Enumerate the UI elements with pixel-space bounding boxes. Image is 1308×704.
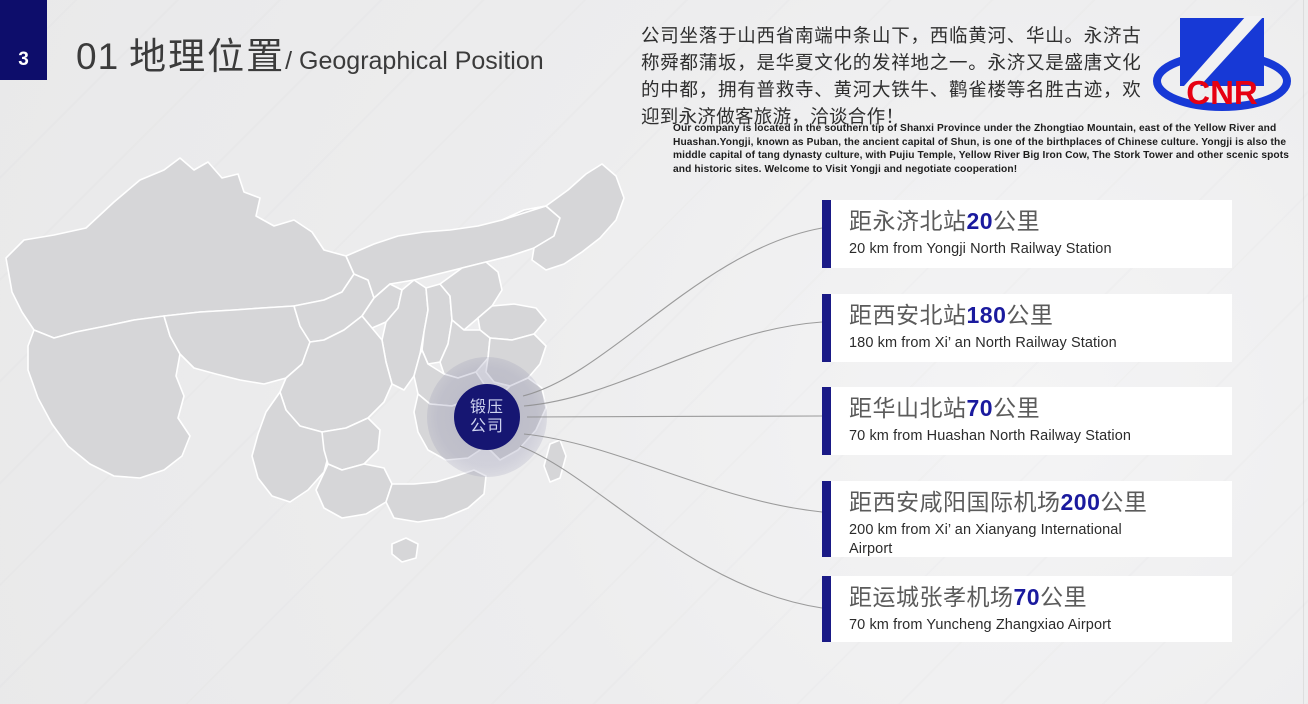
right-edge-divider: [1303, 0, 1304, 704]
map-marker-forging-company[interactable]: 锻压 公司: [454, 384, 520, 450]
card-body: 距华山北站70公里 70 km from Huashan North Railw…: [831, 387, 1232, 455]
map-region: [164, 306, 310, 384]
title-index: 01: [76, 36, 119, 77]
card-title-suffix: 公里: [1006, 303, 1053, 329]
title-english: / Geographical Position: [285, 47, 543, 75]
card-body: 距西安北站180公里 180 km from Xi’ an North Rail…: [831, 294, 1232, 362]
card-distance-number: 180: [967, 302, 1007, 328]
cnr-logo: CNR: [1148, 8, 1296, 114]
card-distance-number: 70: [967, 395, 994, 421]
card-accent-bar: [822, 294, 831, 362]
card-title-chinese: 距华山北站70公里: [849, 394, 1232, 423]
slide-number-badge: 3: [0, 0, 47, 80]
map-region: [478, 304, 546, 340]
info-card[interactable]: 距运城张孝机场70公里 70 km from Yuncheng Zhangxia…: [822, 576, 1232, 642]
page-title: 01地理位置/ Geographical Position: [76, 38, 544, 75]
card-title-chinese: 距西安咸阳国际机场200公里: [849, 488, 1232, 517]
card-title-suffix: 公里: [1100, 490, 1147, 516]
card-distance-number: 20: [967, 208, 994, 234]
map-region: [386, 470, 486, 522]
card-title-suffix: 公里: [993, 209, 1040, 235]
card-subtitle-english: 20 km from Yongji North Railway Station: [849, 240, 1232, 259]
card-distance-number: 70: [1014, 584, 1041, 610]
card-title-prefix: 距西安北站: [849, 303, 967, 329]
card-title-prefix: 距永济北站: [849, 209, 967, 235]
card-title-prefix: 距华山北站: [849, 396, 967, 422]
marker-label-line2: 公司: [470, 417, 504, 436]
info-card[interactable]: 距西安咸阳国际机场200公里 200 km from Xi’ an Xianya…: [822, 481, 1232, 557]
map-region: [392, 538, 418, 562]
info-card[interactable]: 距西安北站180公里 180 km from Xi’ an North Rail…: [822, 294, 1232, 362]
marker-label-line1: 锻压: [470, 398, 504, 417]
info-card[interactable]: 距永济北站20公里 20 km from Yongji North Railwa…: [822, 200, 1232, 268]
card-subtitle-english: 200 km from Xi’ an Xianyang Internationa…: [849, 521, 1149, 559]
card-accent-bar: [822, 576, 831, 642]
card-title-chinese: 距运城张孝机场70公里: [849, 583, 1232, 612]
card-title-prefix: 距运城张孝机场: [849, 585, 1014, 611]
card-title-chinese: 距西安北站180公里: [849, 301, 1232, 330]
card-accent-bar: [822, 481, 831, 557]
slide-canvas: 3 01地理位置/ Geographical Position 公司坐落于山西省…: [0, 0, 1308, 704]
card-body: 距西安咸阳国际机场200公里 200 km from Xi’ an Xianya…: [831, 481, 1232, 557]
card-subtitle-english: 70 km from Yuncheng Zhangxiao Airport: [849, 616, 1232, 635]
card-title-chinese: 距永济北站20公里: [849, 207, 1232, 236]
card-subtitle-english: 180 km from Xi’ an North Railway Station: [849, 334, 1232, 353]
card-distance-number: 200: [1061, 489, 1101, 515]
card-body: 距运城张孝机场70公里 70 km from Yuncheng Zhangxia…: [831, 576, 1232, 642]
card-accent-bar: [822, 200, 831, 268]
title-chinese: 地理位置: [129, 36, 285, 77]
slide-number-text: 3: [18, 49, 29, 71]
logo-text: CNR: [1186, 74, 1258, 111]
info-card[interactable]: 距华山北站70公里 70 km from Huashan North Railw…: [822, 387, 1232, 455]
card-accent-bar: [822, 387, 831, 455]
intro-paragraph-chinese: 公司坐落于山西省南端中条山下，西临黄河、华山。永济古称舜都蒲坂，是华夏文化的发祥…: [641, 23, 1141, 131]
card-body: 距永济北站20公里 20 km from Yongji North Railwa…: [831, 200, 1232, 268]
map-region: [316, 464, 392, 518]
china-map: [0, 140, 714, 670]
map-region: [544, 440, 566, 482]
map-region: [28, 316, 190, 478]
card-title-suffix: 公里: [1040, 585, 1087, 611]
card-title-suffix: 公里: [993, 396, 1040, 422]
card-subtitle-english: 70 km from Huashan North Railway Station: [849, 427, 1232, 446]
intro-paragraph-english: Our company is located in the southern t…: [673, 122, 1303, 176]
card-title-prefix: 距西安咸阳国际机场: [849, 490, 1061, 516]
